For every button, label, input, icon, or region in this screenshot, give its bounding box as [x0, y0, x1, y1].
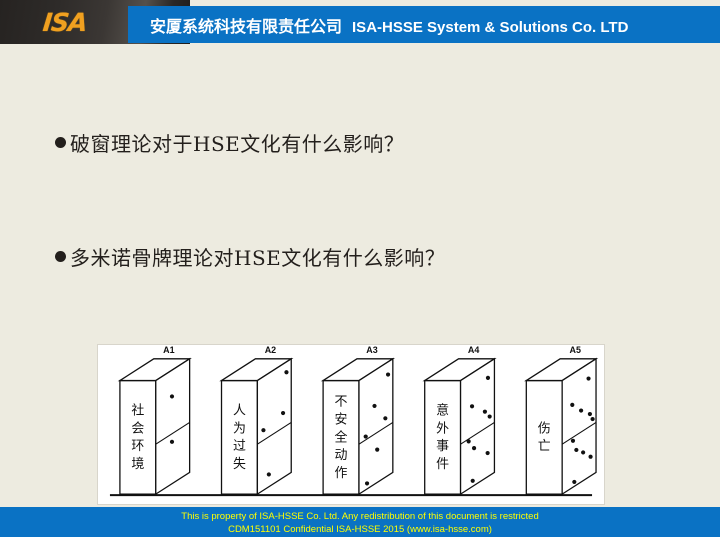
domino-label: A5: [570, 345, 581, 355]
header-banner: 安厦系统科技有限责任公司ISA-HSSE System & Solutions …: [128, 6, 720, 43]
domino-char: 为: [233, 421, 246, 436]
domino-dot: [581, 450, 585, 454]
domino-label: A2: [265, 345, 276, 355]
header-title-cn: 安厦系统科技有限责任公司: [150, 17, 342, 36]
domino-dot: [267, 472, 271, 476]
domino-dot: [470, 404, 474, 408]
domino-side-face: [156, 359, 190, 494]
logo-text: ISA: [42, 10, 88, 35]
domino-char: 境: [131, 457, 144, 472]
domino-dot: [364, 434, 368, 438]
domino-dot: [579, 409, 583, 413]
domino-diagram: A1社会环境A2人为过失A3不安全动作A4意外事件A5伤亡: [97, 344, 605, 505]
domino-char: 亡: [538, 439, 551, 454]
domino-diagram-svg: A1社会环境A2人为过失A3不安全动作A4意外事件A5伤亡: [98, 345, 604, 504]
domino-dot: [386, 372, 390, 376]
domino-dot: [591, 417, 595, 421]
domino-char: 社: [131, 403, 144, 419]
domino-dot: [571, 439, 575, 443]
domino-char: 作: [335, 466, 348, 481]
domino-char: 人: [233, 404, 246, 419]
bullet-dot-icon: [55, 137, 66, 148]
bullet-text-2: 多米诺骨牌理论对HSE文化有什么影响？: [70, 242, 445, 271]
slide-content: 破窗理论对于HSE文化有什么影响？ 多米诺骨牌理论对HSE文化有什么影响？ A1…: [0, 44, 720, 505]
slide-footer: This is property of ISA-HSSE Co. Ltd. An…: [0, 507, 720, 537]
header-title-en: ISA-HSSE System & Solutions Co. LTD: [352, 19, 628, 36]
domino-dot: [472, 446, 476, 450]
domino-char: 全: [335, 429, 348, 445]
domino-dot: [365, 481, 369, 485]
domino-front-face: [526, 381, 562, 495]
domino-char: 伤: [538, 421, 551, 436]
domino-dot: [284, 370, 288, 374]
domino-a2: A2人为过失: [222, 345, 292, 494]
domino-side-face: [257, 359, 291, 494]
domino-dot: [572, 480, 576, 484]
domino-dot: [483, 410, 487, 414]
domino-dot: [170, 394, 174, 398]
domino-dot: [586, 376, 590, 380]
bullet-item-2: 多米诺骨牌理论对HSE文化有什么影响？: [55, 242, 445, 271]
domino-dot: [375, 448, 379, 452]
domino-dot: [488, 414, 492, 418]
domino-dot: [588, 412, 592, 416]
isa-logo: ISA: [24, 9, 106, 35]
domino-dot: [574, 448, 578, 452]
domino-label: A4: [468, 345, 479, 355]
domino-char: 件: [436, 457, 449, 472]
domino-dot: [281, 411, 285, 415]
domino-side-face: [562, 359, 596, 494]
domino-char: 事: [436, 439, 449, 454]
domino-front-face: [222, 381, 258, 495]
footer-line-1: This is property of ISA-HSSE Co. Ltd. An…: [0, 510, 720, 523]
domino-dot: [588, 455, 592, 459]
domino-dot: [570, 403, 574, 407]
domino-label: A3: [366, 345, 377, 355]
domino-dot: [471, 479, 475, 483]
domino-char: 环: [131, 439, 144, 454]
domino-dot: [170, 440, 174, 444]
domino-char: 意: [436, 403, 449, 419]
domino-a5: A5伤亡: [526, 345, 596, 494]
domino-a3: A3不安全动作: [323, 345, 393, 494]
domino-char: 不: [335, 395, 348, 410]
domino-dot: [383, 416, 387, 420]
domino-char: 外: [436, 421, 449, 436]
domino-a1: A1社会环境: [120, 345, 190, 494]
domino-char: 失: [233, 457, 246, 472]
slide-header: ISA 安厦系统科技有限责任公司ISA-HSSE System & Soluti…: [0, 0, 720, 44]
domino-side-face: [359, 359, 393, 494]
domino-front-face: [425, 381, 461, 495]
domino-char: 安: [335, 413, 348, 428]
domino-dot: [486, 451, 490, 455]
domino-dot: [486, 376, 490, 380]
bullet-text-1: 破窗理论对于HSE文化有什么影响？: [70, 128, 404, 157]
footer-line-2: CDM151101 Confidential ISA-HSSE 2015 (ww…: [0, 523, 720, 536]
bullet-dot-icon: [55, 251, 66, 262]
domino-char: 过: [233, 439, 246, 454]
domino-dot: [467, 439, 471, 443]
bullet-item-1: 破窗理论对于HSE文化有什么影响？: [55, 128, 404, 157]
domino-label: A1: [163, 345, 174, 355]
domino-dot: [372, 404, 376, 408]
domino-front-face: [120, 381, 156, 495]
domino-dot: [261, 428, 265, 432]
domino-char: 会: [131, 421, 144, 436]
domino-char: 动: [335, 448, 348, 463]
domino-a4: A4意外事件: [425, 345, 495, 494]
header-title: 安厦系统科技有限责任公司ISA-HSSE System & Solutions …: [150, 13, 628, 37]
